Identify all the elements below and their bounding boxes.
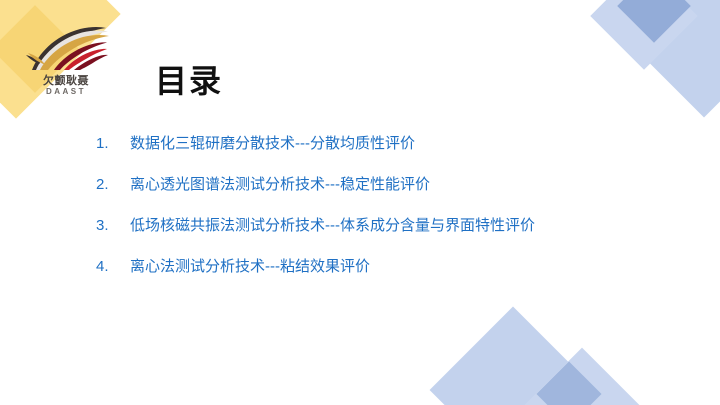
presentation-slide: 欠颤耿聂 DAAST 目录 1. 数据化三辊研磨分散技术---分散均质性评价 2… bbox=[0, 0, 720, 405]
list-item[interactable]: 1. 数据化三辊研磨分散技术---分散均质性评价 bbox=[96, 136, 696, 151]
company-logo: 欠颤耿聂 DAAST bbox=[18, 20, 114, 104]
logo-name-en: DAAST bbox=[18, 88, 114, 96]
blue-square-large bbox=[597, 0, 720, 117]
list-item[interactable]: 4. 离心法测试分析技术---粘结效果评价 bbox=[96, 259, 696, 274]
blue-square-bottom-large bbox=[430, 307, 597, 405]
page-title: 目录 bbox=[155, 62, 223, 100]
decoration-bottom-right-blue bbox=[454, 321, 704, 405]
list-item-number: 2. bbox=[96, 177, 130, 192]
blue-square-bottom-overlap bbox=[536, 361, 601, 405]
list-item[interactable]: 3. 低场核磁共振法测试分析技术---体系成分含量与界面特性评价 bbox=[96, 218, 696, 233]
list-item-label: 数据化三辊研磨分散技术---分散均质性评价 bbox=[130, 136, 415, 151]
list-item-number: 4. bbox=[96, 259, 130, 274]
blue-square-medium bbox=[590, 0, 697, 70]
eagle-emblem-icon bbox=[18, 20, 114, 80]
list-item-label: 离心透光图谱法测试分析技术---稳定性能评价 bbox=[130, 177, 430, 192]
blue-square-overlap bbox=[617, 0, 691, 43]
table-of-contents: 1. 数据化三辊研磨分散技术---分散均质性评价 2. 离心透光图谱法测试分析技… bbox=[96, 136, 696, 300]
logo-name-cn: 欠颤耿聂 bbox=[18, 76, 114, 88]
logo-wordmark: 欠颤耿聂 DAAST bbox=[18, 76, 114, 96]
decoration-top-right-blue bbox=[520, 0, 720, 144]
list-item-number: 3. bbox=[96, 218, 130, 233]
list-item[interactable]: 2. 离心透光图谱法测试分析技术---稳定性能评价 bbox=[96, 177, 696, 192]
list-item-number: 1. bbox=[96, 136, 130, 151]
blue-square-bottom-medium bbox=[523, 348, 642, 405]
list-item-label: 低场核磁共振法测试分析技术---体系成分含量与界面特性评价 bbox=[130, 218, 535, 233]
list-item-label: 离心法测试分析技术---粘结效果评价 bbox=[130, 259, 370, 274]
